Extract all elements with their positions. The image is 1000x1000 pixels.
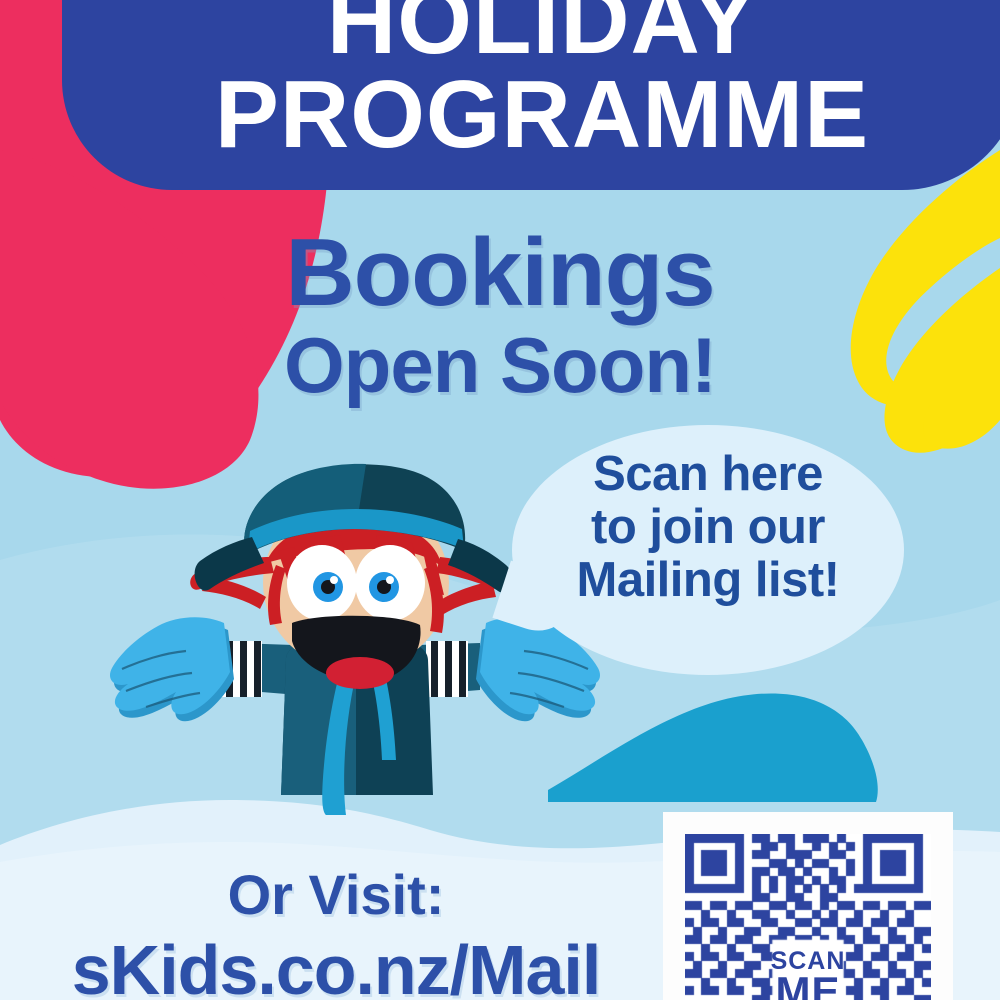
headline-line-2: Open Soon! [0,321,1000,411]
left-glove [110,617,234,721]
speech-bubble-text: Scan here to join our Mailing list! [512,448,904,607]
right-cuff [426,641,468,697]
bubble-line-2: to join our [512,501,904,554]
qr-code-image[interactable]: SCAN ME [685,834,931,1000]
headline-block: Bookings Open Soon! [0,225,1000,411]
qr-scan-me-label: SCAN ME [771,950,846,1000]
or-visit-label: Or Visit: [0,862,672,927]
headline-line-1: Bookings [0,225,1000,321]
bubble-line-3: Mailing list! [512,554,904,607]
title-banner-text: HOLIDAY PROGRAMME [62,0,1000,190]
banner-title-line-2: PROGRAMME [215,68,869,162]
tongue [326,657,394,689]
website-url[interactable]: sKids.co.nz/Mail [0,930,672,1000]
qr-code-card[interactable]: SCAN ME [663,812,953,1000]
banner-title-line-1: HOLIDAY [327,0,757,68]
bubble-line-1: Scan here [512,448,904,501]
poster-canvas: Scan here to join our Mailing list! HOLI… [0,0,1000,1000]
qr-me-text: ME [771,973,846,1000]
